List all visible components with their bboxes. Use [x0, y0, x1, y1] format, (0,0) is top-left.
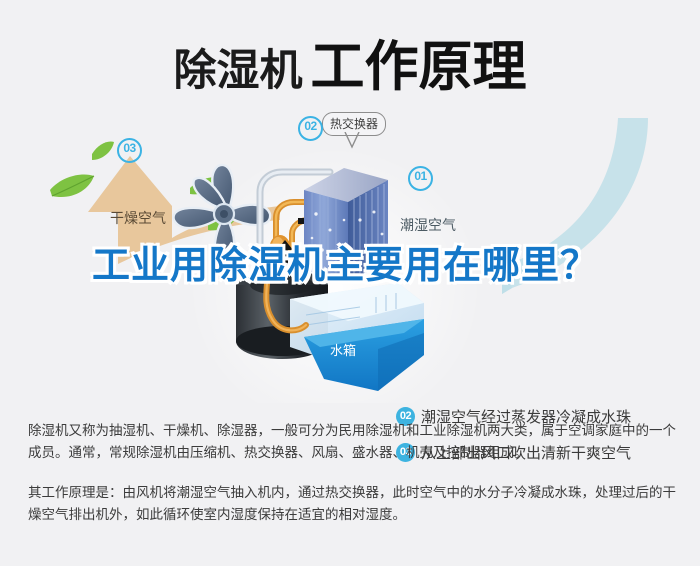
callout-pointer [344, 132, 360, 149]
body-paragraph-1: 除湿机又称为抽湿机、干燥机、除湿器，一般可分为民用除湿机和工业除湿机两大类，属于… [28, 420, 676, 464]
page-title: 除湿机工作原理 [0, 22, 700, 101]
body-paragraph-2: 其工作原理是：由风机将潮湿空气抽入机内，通过热交换器，此时空气中的水分子冷凝成水… [28, 482, 676, 526]
infographic-page: 除湿机工作原理 [0, 0, 700, 566]
title-part-large: 工作原理 [311, 37, 527, 97]
caption-water-tank: 水箱 [330, 340, 356, 359]
badge-01: 01 [408, 166, 433, 191]
badge-02: 02 [298, 116, 323, 141]
overlay-headline: 工业用除湿机主要用在哪里？ [92, 243, 622, 288]
title-part-small: 除湿机 [174, 47, 303, 95]
badge-03: 03 [117, 138, 142, 163]
caption-moist-air: 潮湿空气 [400, 215, 456, 235]
caption-dry-air: 干燥空气 [110, 208, 166, 228]
